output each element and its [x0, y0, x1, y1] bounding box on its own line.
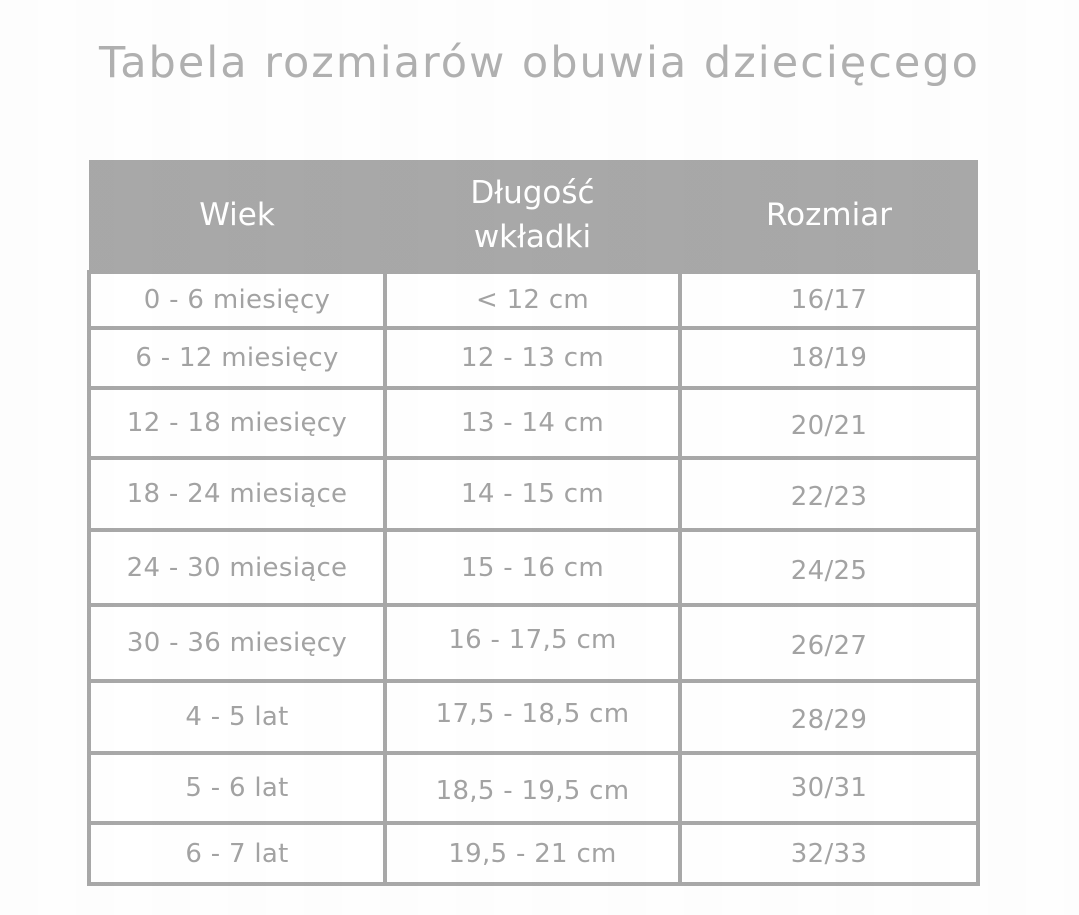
table-row: 6 - 7 lat 19,5 - 21 cm 32/33	[89, 823, 978, 884]
page-title: Tabela rozmiarów obuwia dziecięcego	[0, 38, 1079, 88]
cell-size: 30/31	[680, 753, 978, 823]
cell-length: 16 - 17,5 cm	[385, 605, 680, 681]
cell-age: 4 - 5 lat	[89, 681, 385, 753]
cell-length: 13 - 14 cm	[385, 388, 680, 458]
cell-age: 6 - 7 lat	[89, 823, 385, 884]
cell-size: 28/29	[680, 681, 978, 753]
table-row: 5 - 6 lat 18,5 - 19,5 cm 30/31	[89, 753, 978, 823]
cell-age: 5 - 6 lat	[89, 753, 385, 823]
table-row: 6 - 12 miesięcy 12 - 13 cm 18/19	[89, 328, 978, 388]
cell-size: 32/33	[680, 823, 978, 884]
column-header-length-line-1: Długość	[391, 171, 674, 215]
size-table-container: Wiek Długość wkładki Rozmiar 0 - 6 miesi…	[87, 160, 976, 824]
table-row: 0 - 6 miesięcy < 12 cm 16/17	[89, 272, 978, 328]
cell-length: 17,5 - 18,5 cm	[385, 681, 680, 753]
cell-age: 6 - 12 miesięcy	[89, 328, 385, 388]
table-row: 30 - 36 miesięcy 16 - 17,5 cm 26/27	[89, 605, 978, 681]
table-row: 4 - 5 lat 17,5 - 18,5 cm 28/29	[89, 681, 978, 753]
column-header-size-line-1: Rozmiar	[686, 193, 972, 237]
table-row: 18 - 24 miesiące 14 - 15 cm 22/23	[89, 458, 978, 530]
table-header-row: Wiek Długość wkładki Rozmiar	[89, 160, 978, 272]
table-header: Wiek Długość wkładki Rozmiar	[89, 160, 978, 272]
cell-age: 30 - 36 miesięcy	[89, 605, 385, 681]
cell-length: 15 - 16 cm	[385, 530, 680, 605]
shoe-size-table: Wiek Długość wkładki Rozmiar 0 - 6 miesi…	[87, 160, 980, 886]
page-root: Tabela rozmiarów obuwia dziecięcego Wiek…	[0, 0, 1079, 915]
column-header-length-line-2: wkładki	[391, 215, 674, 259]
cell-age: 24 - 30 miesiące	[89, 530, 385, 605]
cell-size: 20/21	[680, 388, 978, 458]
cell-size: 26/27	[680, 605, 978, 681]
cell-length: < 12 cm	[385, 272, 680, 328]
column-header-length: Długość wkładki	[385, 160, 680, 272]
column-header-size: Rozmiar	[680, 160, 978, 272]
column-header-age: Wiek	[89, 160, 385, 272]
cell-size: 22/23	[680, 458, 978, 530]
table-row: 24 - 30 miesiące 15 - 16 cm 24/25	[89, 530, 978, 605]
cell-length: 12 - 13 cm	[385, 328, 680, 388]
cell-size: 16/17	[680, 272, 978, 328]
table-body: 0 - 6 miesięcy < 12 cm 16/17 6 - 12 mies…	[89, 272, 978, 884]
cell-size: 18/19	[680, 328, 978, 388]
cell-length: 14 - 15 cm	[385, 458, 680, 530]
cell-age: 0 - 6 miesięcy	[89, 272, 385, 328]
cell-age: 18 - 24 miesiące	[89, 458, 385, 530]
column-header-age-line-1: Wiek	[95, 193, 379, 237]
cell-length: 19,5 - 21 cm	[385, 823, 680, 884]
table-row: 12 - 18 miesięcy 13 - 14 cm 20/21	[89, 388, 978, 458]
cell-length: 18,5 - 19,5 cm	[385, 753, 680, 823]
cell-age: 12 - 18 miesięcy	[89, 388, 385, 458]
cell-size: 24/25	[680, 530, 978, 605]
